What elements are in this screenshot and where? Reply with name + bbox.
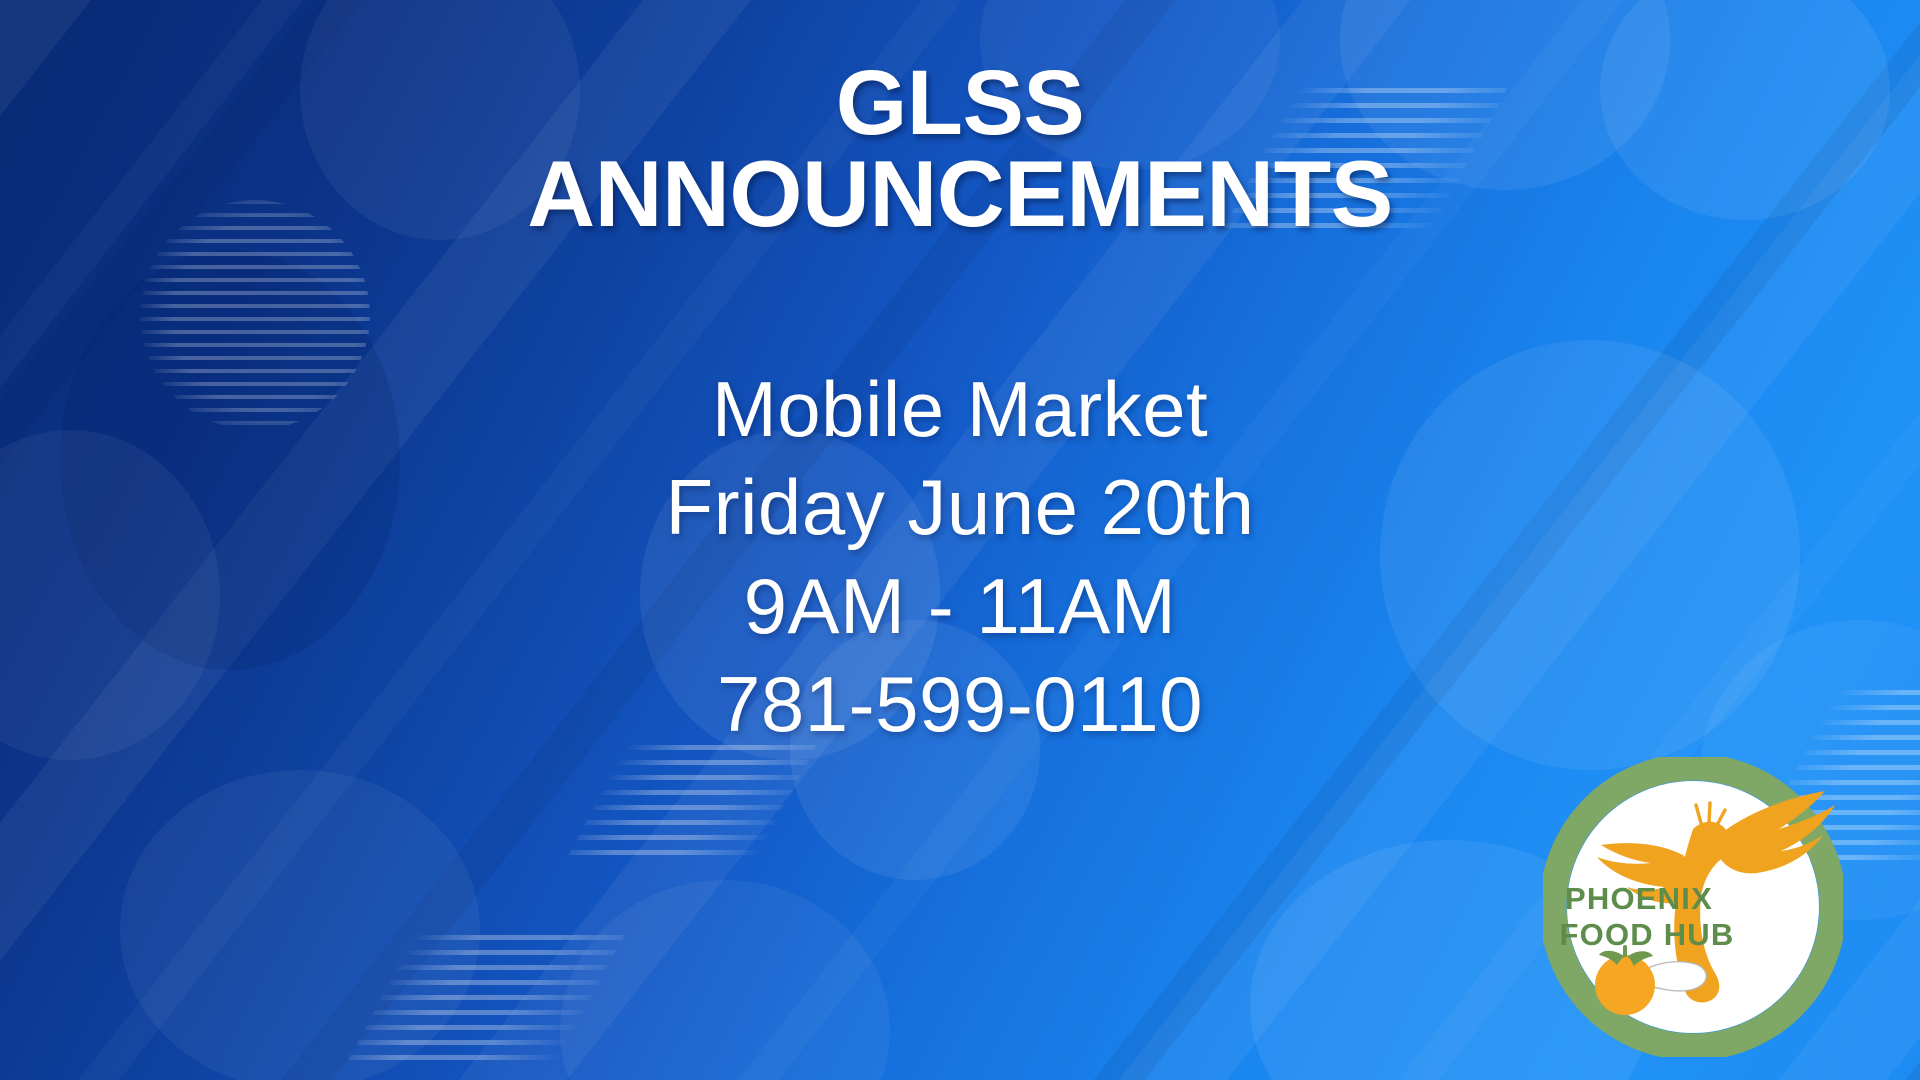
- announcement-body: Mobile Market Friday June 20th 9AM - 11A…: [0, 360, 1920, 753]
- announcement-event: Mobile Market: [0, 360, 1920, 458]
- headline-line-1: GLSS: [836, 52, 1084, 154]
- phoenix-food-hub-logo: A FOOD & NUTRITION NETWORK SPONSORED BY …: [1543, 757, 1843, 1057]
- announcement-phone: 781-599-0110: [0, 655, 1920, 753]
- announcement-slide: GLSS ANNOUNCEMENTS Mobile Market Friday …: [0, 0, 1920, 1080]
- headline-line-2: ANNOUNCEMENTS: [0, 148, 1920, 240]
- logo-title-line-2: FOOD HUB: [1560, 917, 1735, 952]
- logo-title-line-1: PHOENIX: [1565, 881, 1713, 916]
- page-title: GLSS ANNOUNCEMENTS: [0, 58, 1920, 240]
- announcement-date: Friday June 20th: [0, 458, 1920, 556]
- announcement-time: 9AM - 11AM: [0, 557, 1920, 655]
